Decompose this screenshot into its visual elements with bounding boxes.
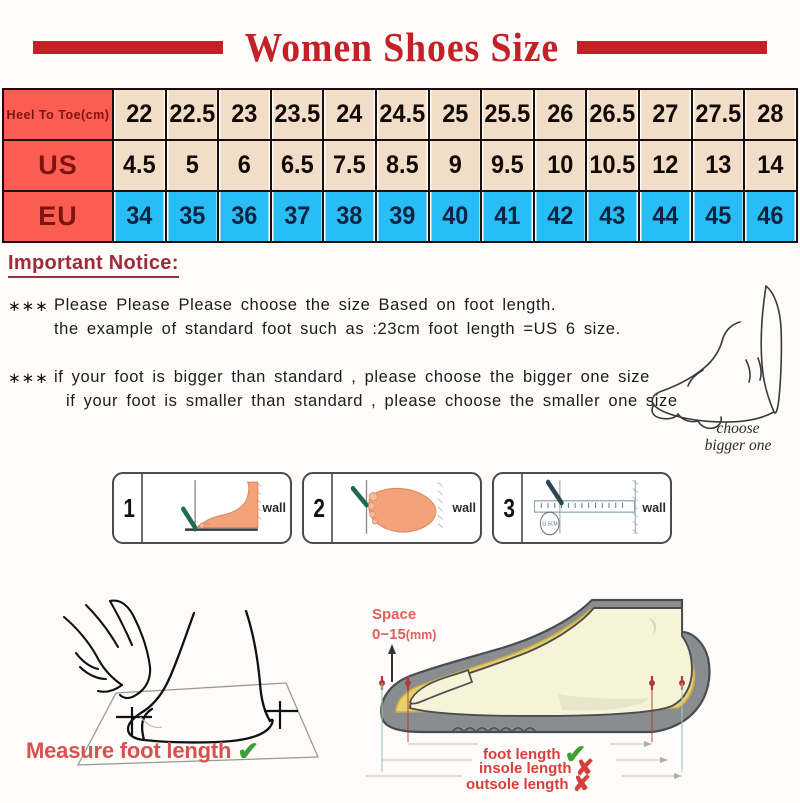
cell-eu-6: 40 [430,191,479,242]
row-label-us: US [3,140,113,191]
table-row-heel-to-toe: Heel To Toe(cm) 22 22.5 23 23.5 24 24.5 … [3,89,797,140]
cell-us-3: 6.5 [272,140,321,191]
notice-line-4: if your foot is smaller than standard , … [8,390,708,414]
cell-us-8: 10 [535,140,584,191]
foot-caption-line-2: bigger one [678,437,798,454]
cell-cm-10: 27 [641,89,690,140]
step-1-illustration: wall [146,474,290,542]
cell-cm-12: 28 [746,89,796,140]
space-title: Space [372,605,436,625]
cell-eu-0: 34 [115,191,164,242]
notice-line-3: ∗∗∗ if your foot is bigger than standard… [8,366,708,390]
space-value: 0−15 [372,626,406,643]
cell-cm-3: 23.5 [272,89,321,140]
step-number-1: 1 [117,474,143,542]
page-title-bar: Women Shoes Size [0,18,800,76]
cell-eu-12: 46 [746,191,796,242]
size-table-body: Heel To Toe(cm) 22 22.5 23 23.5 24 24.5 … [3,89,797,242]
title-rule-right [577,41,767,54]
cell-cm-5: 24.5 [378,89,427,140]
asterisk-marker: ∗∗∗ [8,294,54,318]
cell-cm-0: 22 [115,89,164,140]
step-panel-1: 1 wall [112,472,292,544]
measurement-steps: 1 wall 2 [112,472,672,544]
important-notice-section: Important Notice: ∗∗∗ Please Please Plea… [8,252,708,414]
step-number-2: 2 [307,474,333,542]
row-label-heel-to-toe: Heel To Toe(cm) [3,89,113,140]
cell-us-1: 5 [167,140,216,191]
notice-text-4: if your foot is smaller than standard , … [66,390,708,414]
check-icon: ✔ [237,738,259,764]
measure-foot-length-caption: Measure foot length ✔ [26,738,326,764]
cell-us-9: 10.5 [588,140,637,191]
notice-text-3: if your foot is bigger than standard , p… [54,366,708,390]
wall-label-1: wall [262,501,286,515]
cell-eu-11: 45 [693,191,742,242]
dimension-outsole-length: outsole length ✘ [466,773,591,795]
cell-cm-9: 26.5 [588,89,637,140]
cell-cm-2: 23 [220,89,269,140]
cell-cm-7: 25.5 [483,89,532,140]
space-value-row: 0−15(mm) [372,625,436,645]
notice-line-1: ∗∗∗ Please Please Please choose the size… [8,294,708,318]
space-unit: (mm) [406,628,437,642]
title-rule-left [33,41,223,54]
notice-line-2: the example of standard foot such as :23… [8,318,708,342]
cell-cm-1: 22.5 [167,89,216,140]
notice-text-1: Please Please Please choose the size Bas… [54,294,708,318]
notice-text-2: the example of standard foot such as :23… [54,318,708,342]
cell-us-6: 9 [430,140,479,191]
table-row-us: US 4.5 5 6 6.5 7.5 8.5 9 9.5 10 10.5 12 … [3,140,797,191]
table-row-eu: EU 34 35 36 37 38 39 40 41 42 43 44 45 4… [3,191,797,242]
dim-outsole-text: outsole length [466,776,569,793]
row-label-eu: EU [3,191,113,242]
cell-us-5: 8.5 [378,140,427,191]
cell-cm-6: 25 [430,89,479,140]
wall-label-3: wall [642,501,666,515]
foot-sketch-caption: choose bigger one [678,420,798,455]
foot-caption-line-1: choose [678,420,798,437]
cell-cm-4: 24 [325,89,374,140]
cell-eu-9: 43 [588,191,637,242]
cell-us-7: 9.5 [483,140,532,191]
wall-label-2: wall [452,501,476,515]
page-title: Women Shoes Size [245,27,559,68]
step-2-illustration: wall [336,474,480,542]
step-number-3: 3 [497,474,523,542]
cell-eu-7: 41 [483,191,532,242]
cell-us-0: 4.5 [115,140,164,191]
cell-cm-8: 26 [535,89,584,140]
cell-us-12: 14 [746,140,796,191]
cell-eu-2: 36 [220,191,269,242]
cell-eu-5: 39 [378,191,427,242]
cell-eu-3: 37 [272,191,321,242]
cell-eu-10: 44 [641,191,690,242]
ruler-reading-label: 11.5CM [542,521,558,528]
cell-us-10: 12 [641,140,690,191]
notice-block-2: ∗∗∗ if your foot is bigger than standard… [8,366,708,414]
notice-block-1: ∗∗∗ Please Please Please choose the size… [8,294,708,342]
notice-heading: Important Notice: [8,252,179,278]
cell-us-4: 7.5 [325,140,374,191]
cell-eu-1: 35 [167,191,216,242]
size-conversion-table: Heel To Toe(cm) 22 22.5 23 23.5 24 24.5 … [2,88,798,243]
cell-eu-4: 38 [325,191,374,242]
cell-us-2: 6 [220,140,269,191]
cell-cm-11: 27.5 [693,89,742,140]
step-3-illustration: 11.5CM wall [526,474,670,542]
asterisk-marker-2: ∗∗∗ [8,366,54,390]
measure-caption-text: Measure foot length [26,738,231,764]
space-measurement-label: Space 0−15(mm) [372,605,436,646]
cell-eu-8: 42 [535,191,584,242]
step-panel-3: 3 [492,472,672,544]
cross-icon-outsole: ✘ [573,773,591,795]
cell-us-11: 13 [693,140,742,191]
step-panel-2: 2 wall [302,472,482,544]
